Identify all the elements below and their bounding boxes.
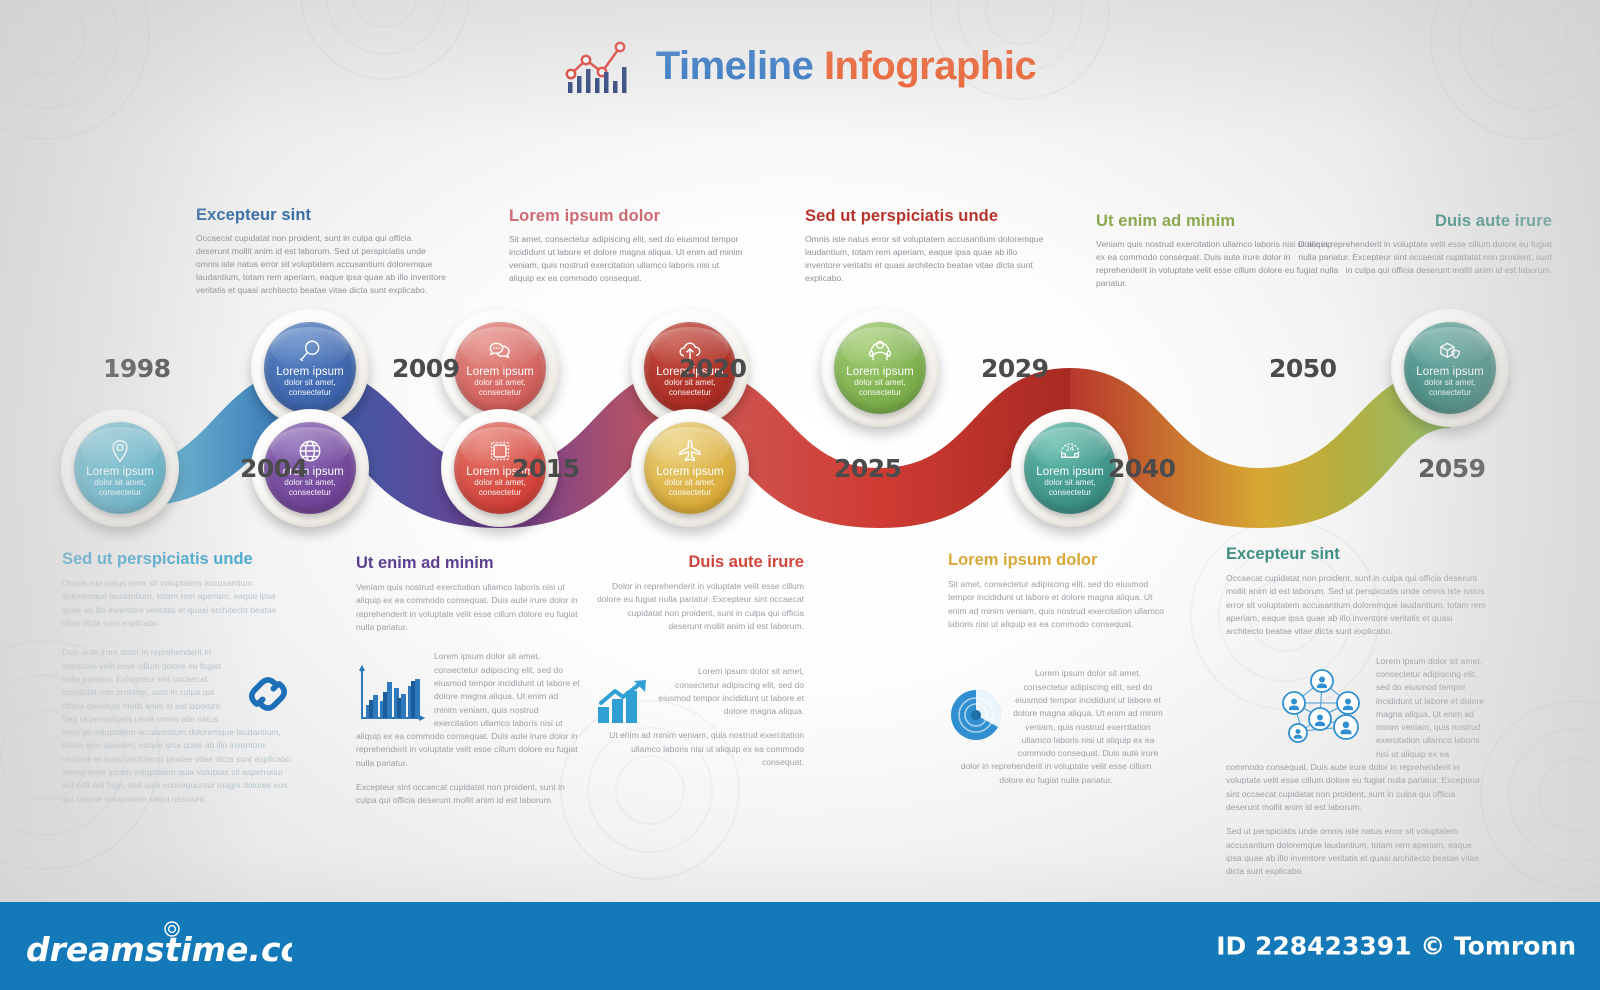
bar-chart-icon — [356, 664, 426, 724]
top-text-block-3: Sed ut perspiciatis unde Omnis iste natu… — [805, 207, 1045, 285]
bottom-block-title: Duis aute irure — [596, 553, 804, 572]
dreamstime-logo: dreamstime.com — [22, 917, 292, 976]
magnifier-icon — [297, 338, 323, 364]
bottom-text-block-1: Sed ut perspiciatis unde Omnis iste natu… — [62, 550, 294, 806]
year-label-2050: 2050 — [1269, 354, 1337, 383]
year-label-2015: 2015 — [512, 454, 580, 483]
node-label-line2: dolor sit amet, — [474, 378, 525, 388]
bottom-block-lead: Omnis iste natus error sit voluptatem ac… — [62, 577, 294, 630]
growth-chart-icon — [596, 679, 650, 725]
node-disc: Lorem ipsum dolor sit amet, consectetur — [264, 322, 356, 414]
node-label-line1: Lorem ipsum — [276, 366, 344, 378]
timeline-node-1[interactable]: Lorem ipsum dolor sit amet, consectetur — [61, 409, 179, 527]
bottom-block-body2: Sed ut perspiciatis unde omnis iste natu… — [1226, 825, 1488, 878]
bottom-block-title: Ut enim ad minim — [356, 554, 581, 573]
node-label-line3: consectetur — [479, 488, 521, 498]
pie-chart-icon — [948, 687, 1004, 743]
node-label-line2: dolor sit amet, — [1424, 378, 1475, 388]
footer-bar: dreamstime.com ID 228423391 © Tomronn — [0, 902, 1600, 990]
year-label-2004: 2004 — [240, 454, 308, 483]
node-disc: Lorem ipsum dolor sit amet, consectetur — [644, 422, 736, 514]
timeline-node-10[interactable]: Lorem ipsum dolor sit amet, consectetur — [1391, 309, 1509, 427]
watermark-circle — [1480, 700, 1600, 890]
page-title: Timeline Infographic — [656, 44, 1036, 89]
bottom-block-body-wrap: Lorem ipsum dolor sit amet, consectetur … — [356, 650, 581, 807]
timeline-node-8[interactable]: Lorem ipsum dolor sit amet, consectetur — [821, 309, 939, 427]
bottom-text-block-2: Ut enim ad minim Veniam quis nostrud exe… — [356, 554, 581, 808]
page-header: Timeline Infographic — [0, 38, 1600, 94]
bottom-block-body-wrap: Lorem ipsum dolor sit amet, consectetur … — [948, 667, 1164, 787]
bottom-block-lead: Sit amet, consectetur adipiscing elit, s… — [948, 578, 1164, 631]
node-label-line1: Lorem ipsum — [656, 466, 724, 478]
node-disc: Lorem ipsum dolor sit amet, consectetur — [74, 422, 166, 514]
node-label-line3: consectetur — [99, 488, 141, 498]
infographic-canvas: Timeline Infographic Excepteur sint Occa… — [0, 0, 1600, 990]
title-part-infographic: Infographic — [824, 44, 1036, 88]
airplane-icon — [677, 438, 703, 464]
bottom-text-block-4: Lorem ipsum dolor Sit amet, consectetur … — [948, 551, 1164, 787]
node-label-line2: dolor sit amet, — [664, 478, 715, 488]
bottom-block-body-wrap: Lorem ipsum dolor sit amet, consectetur … — [596, 665, 804, 769]
node-label-line3: consectetur — [289, 388, 331, 398]
bottom-block-body: Lorem ipsum dolor sit amet, consectetur … — [658, 666, 804, 716]
node-label-line1: Lorem ipsum — [1416, 366, 1484, 378]
dreamstime-wordmark: dreamstime.com — [26, 930, 292, 969]
top-block-body: Sit amet, consectetur adipiscing elit, s… — [509, 233, 744, 285]
svg-text:24: 24 — [1066, 446, 1075, 454]
social-network-icon — [1274, 665, 1370, 749]
node-label-line1: Lorem ipsum — [466, 366, 534, 378]
timeline-track: Lorem ipsum dolor sit amet, consectetur … — [0, 300, 1600, 550]
bottom-text-block-3: Duis aute irure Dolor in reprehenderit i… — [596, 553, 804, 769]
top-block-body: Dolor in reprehenderit in voluptate veli… — [1290, 238, 1552, 277]
top-block-body: Occaecat cupidatat non proident, sunt in… — [196, 232, 446, 297]
year-label-2009: 2009 — [392, 354, 460, 383]
node-label-line3: consectetur — [289, 488, 331, 498]
year-label-2029: 2029 — [981, 354, 1049, 383]
bottom-block-title: Sed ut perspiciatis unde — [62, 550, 294, 569]
bottom-block-title: Lorem ipsum dolor — [948, 551, 1164, 570]
node-label-line3: consectetur — [479, 388, 521, 398]
top-block-title: Excepteur sint — [196, 206, 446, 225]
node-label-line2: dolor sit amet, — [284, 378, 335, 388]
line-bar-chart-icon — [564, 38, 640, 94]
year-label-2025: 2025 — [834, 454, 902, 483]
24h-phone-icon: 24 — [1057, 438, 1083, 464]
node-disc: Lorem ipsum dolor sit amet, consectetur — [834, 322, 926, 414]
year-label-2020: 2020 — [679, 354, 747, 383]
bottom-block-lead: Dolor in reprehenderit in voluptate veli… — [596, 580, 804, 633]
cpu-chip-icon — [487, 438, 513, 464]
image-credit: ID 228423391 © Tomronn — [1216, 932, 1576, 961]
chat-bubbles-icon — [487, 338, 513, 364]
timeline-ribbon — [0, 300, 1600, 550]
bottom-block-lead: Veniam quis nostrud exercitation ullamco… — [356, 581, 581, 634]
top-text-block-1: Excepteur sint Occaecat cupidatat non pr… — [196, 206, 446, 297]
node-label-line1: Lorem ipsum — [846, 366, 914, 378]
bottom-block-title: Excepteur sint — [1226, 545, 1488, 564]
node-label-line2: dolor sit amet, — [1044, 478, 1095, 488]
node-label-line1: Lorem ipsum — [1036, 466, 1104, 478]
node-label-line3: consectetur — [859, 388, 901, 398]
node-disc: Lorem ipsum dolor sit amet, consectetur — [454, 322, 546, 414]
top-text-block-5: Duis aute irure Dolor in reprehenderit i… — [1290, 212, 1552, 277]
chain-link-icon — [242, 668, 294, 720]
title-part-timeline: Timeline — [656, 44, 814, 88]
bottom-block-body-wrap: Duis aute irure dolor in reprehenderit i… — [62, 646, 294, 806]
node-disc: 24 Lorem ipsum dolor sit amet, consectet… — [1024, 422, 1116, 514]
top-text-block-2: Lorem ipsum dolor Sit amet, consectetur … — [509, 207, 744, 285]
bottom-block-body-wrap: Lorem ipsum dolor sit amet, consectetur … — [1226, 655, 1488, 879]
bottom-block-lead: Occaecat cupidatat non proident, sunt in… — [1226, 572, 1488, 639]
timeline-node-7[interactable]: Lorem ipsum dolor sit amet, consectetur — [631, 409, 749, 527]
node-label-line3: consectetur — [1429, 388, 1471, 398]
node-label-line3: consectetur — [669, 488, 711, 498]
node-label-line3: consectetur — [1049, 488, 1091, 498]
top-block-title: Lorem ipsum dolor — [509, 207, 744, 226]
location-pin-icon — [107, 438, 133, 464]
box-shield-icon — [1437, 338, 1463, 364]
top-block-title: Duis aute irure — [1290, 212, 1552, 231]
node-label-line2: dolor sit amet, — [854, 378, 905, 388]
bottom-block-body2: Excepteur sint occaecat cupidatat non pr… — [356, 781, 581, 808]
year-label-1998: 1998 — [103, 354, 171, 383]
node-disc: Lorem ipsum dolor sit amet, consectetur — [1404, 322, 1496, 414]
year-label-2059: 2059 — [1418, 454, 1486, 483]
headset-support-icon — [867, 338, 893, 364]
bottom-text-block-5: Excepteur sint Occaecat cupidatat non pr… — [1226, 545, 1488, 879]
top-block-body: Omnis iste natus error sit voluptatem ac… — [805, 233, 1045, 285]
top-block-title: Sed ut perspiciatis unde — [805, 207, 1045, 226]
year-label-2040: 2040 — [1108, 454, 1176, 483]
node-label-line3: consectetur — [669, 388, 711, 398]
node-label-line1: Lorem ipsum — [86, 466, 154, 478]
bottom-block-body2: Ut enim ad minim veniam, quis nostrud ex… — [596, 729, 804, 769]
node-label-line2: dolor sit amet, — [94, 478, 145, 488]
